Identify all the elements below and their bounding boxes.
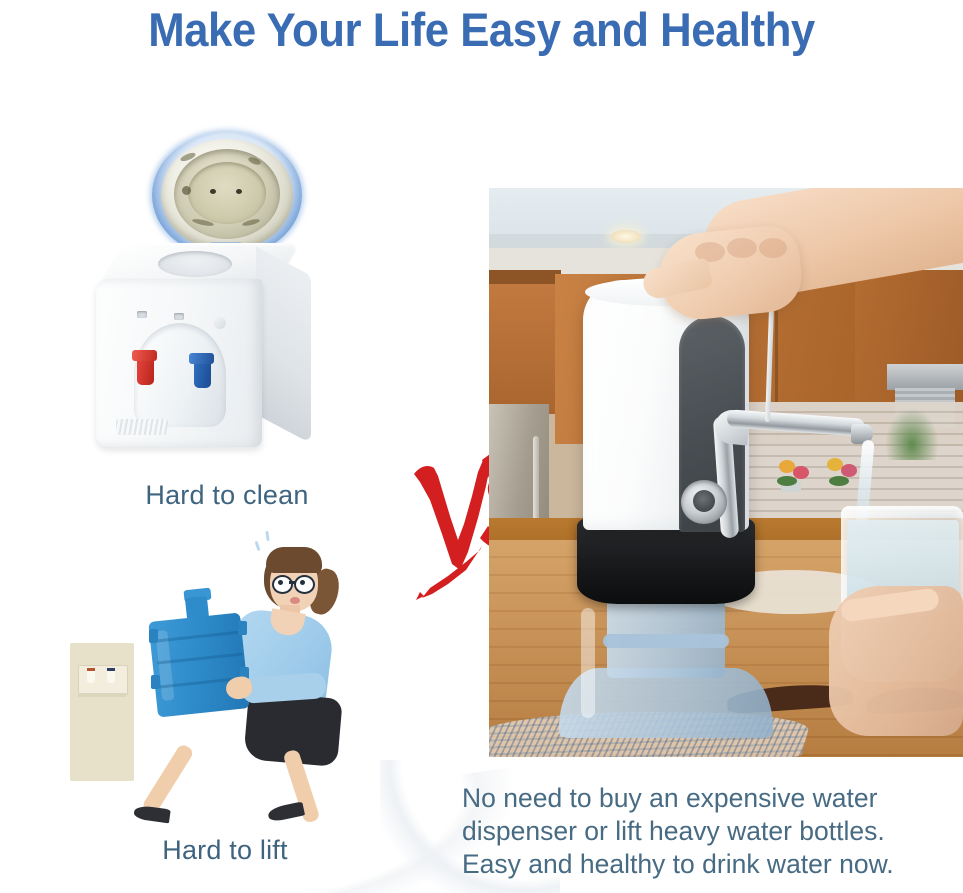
ceiling-downlight xyxy=(611,230,641,243)
hot-water-tap xyxy=(137,357,154,385)
woman-mouth xyxy=(290,597,300,604)
caption-hard-to-lift: Hard to lift xyxy=(0,835,460,866)
pump-nozzle-inner xyxy=(693,490,715,512)
sweat-drop-icon xyxy=(265,531,269,541)
woman-lifting-bottle-illustration xyxy=(56,525,416,825)
floor-dispenser-shelf xyxy=(78,693,126,697)
knuckle-shading xyxy=(759,238,787,258)
cold-tap-lever xyxy=(189,353,214,364)
eyeglass-right-icon xyxy=(294,575,315,594)
flower xyxy=(841,464,857,477)
sweat-drop-icon xyxy=(255,541,261,551)
woman-eye xyxy=(300,580,305,585)
flower-leaf xyxy=(777,476,797,486)
floor-dispenser-hot-tap xyxy=(87,671,95,683)
woman-back-shoe xyxy=(133,805,171,824)
description-line-1: No need to buy an expensive water xyxy=(462,782,954,815)
dispenser-side-panel xyxy=(256,246,311,443)
woman-eye xyxy=(278,580,283,585)
page-title: Make Your Life Easy and Healthy xyxy=(34,2,930,57)
bottle-highlight xyxy=(581,608,595,718)
dispenser-reservoir-opening xyxy=(158,251,232,277)
bottle-grip xyxy=(151,675,160,689)
reservoir-hole xyxy=(236,189,242,194)
eyeglass-bridge xyxy=(289,581,295,584)
product-photo xyxy=(489,188,963,757)
bottle-grip xyxy=(149,629,158,643)
bottle-grip xyxy=(238,621,247,635)
left-cabinet xyxy=(489,284,561,414)
potted-plant xyxy=(885,408,939,460)
knuckle-shading xyxy=(727,238,757,258)
flower-leaf xyxy=(829,476,849,486)
grime-stain xyxy=(182,186,191,195)
countertop-water-dispenser-illustration xyxy=(96,243,311,448)
hot-tap-lever xyxy=(132,350,157,361)
product-infographic: Make Your Life Easy and Healthy xyxy=(0,0,963,893)
blue-water-bottle xyxy=(148,612,250,717)
reservoir-inner-basin xyxy=(188,162,266,224)
gallon-bottle-ring xyxy=(603,634,729,648)
caption-hard-to-clean: Hard to clean xyxy=(0,480,462,511)
description-line-2: dispenser or lift heavy water bottles. xyxy=(462,815,954,848)
flower xyxy=(793,466,809,479)
dispenser-indicator-light xyxy=(137,311,147,318)
dispenser-indicator-light xyxy=(174,313,184,320)
cold-water-tap xyxy=(194,360,211,388)
marketing-description: No need to buy an expensive water dispen… xyxy=(462,782,954,881)
description-line-3: Easy and healthy to drink water now. xyxy=(462,848,954,881)
dispenser-knob xyxy=(214,317,226,329)
dispenser-drip-grill xyxy=(116,419,168,435)
problem-column: Hard to clean xyxy=(0,110,470,893)
woman-front-shoe xyxy=(267,801,305,822)
woman-fringe xyxy=(266,547,322,573)
range-hood xyxy=(887,364,963,390)
floor-dispenser-body xyxy=(70,643,134,781)
floor-dispenser-panel xyxy=(78,665,128,695)
floor-dispenser-cold-tap xyxy=(107,671,115,683)
woman-back-leg xyxy=(141,743,195,816)
eyeglass-left-icon xyxy=(272,575,293,594)
reservoir-hole xyxy=(210,189,216,194)
